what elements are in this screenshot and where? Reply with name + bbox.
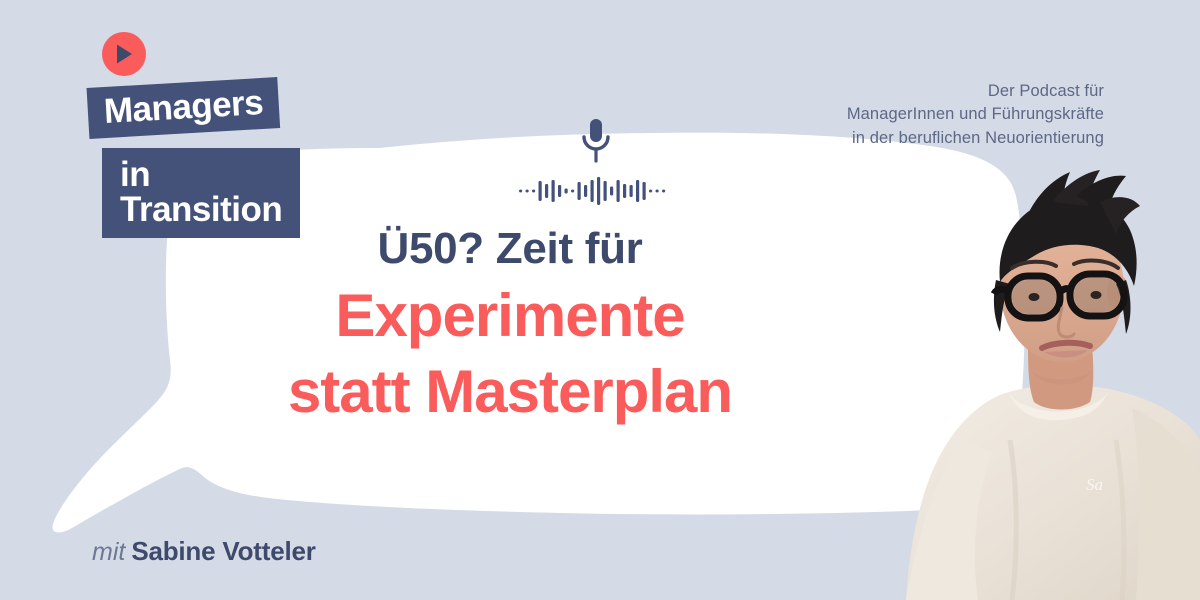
tagline-line-1: Der Podcast für (847, 80, 1104, 103)
episode-title-line-1: Ü50? Zeit für (150, 224, 870, 273)
host-portrait: Sa (900, 140, 1200, 600)
play-triangle-icon (114, 43, 134, 65)
episode-title-line-2: Experimente (150, 277, 870, 355)
host-credit: mitSabine Votteler (92, 536, 316, 567)
episode-title: Ü50? Zeit für Experimente statt Masterpl… (150, 224, 870, 431)
logo-line-managers-label: Managers (103, 85, 264, 129)
host-portrait-illustration: Sa (900, 140, 1200, 600)
host-credit-prefix: mit (92, 538, 125, 566)
logo-line-in-transition-label: in Transition (120, 157, 282, 227)
tagline-line-2: ManagerInnen und Führungskräfte (847, 103, 1104, 126)
sweater-embroidery: Sa (1086, 475, 1103, 494)
episode-title-line-3: statt Masterplan (150, 353, 870, 431)
play-icon[interactable] (102, 32, 146, 76)
podcast-cover: Managers in Transition Der Podcast für M… (0, 0, 1200, 600)
host-name: Sabine Votteler (131, 536, 315, 566)
